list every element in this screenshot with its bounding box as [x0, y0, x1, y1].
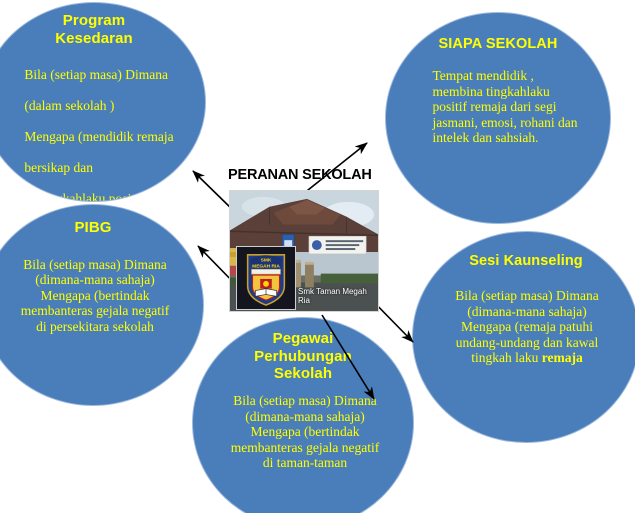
node-pibg[interactable]: PIBG Bila (setiap masa) Dimana (dimana-m…: [0, 204, 204, 406]
node-pegawai-perhubungan-sekolah-body: Bila (setiap masa) Dimana (dimana-mana s…: [221, 393, 385, 471]
body-emphasis: remaja: [542, 350, 583, 365]
page-title: PERANAN SEKOLAH: [228, 167, 372, 183]
node-sesi-kaunseling-title: Sesi Kaunseling: [469, 253, 583, 270]
svg-text:MEGAH RIA: MEGAH RIA: [252, 263, 280, 269]
body-line: Bila (setiap masa) Dimana: [24, 67, 168, 82]
node-pibg-title: PIBG: [74, 219, 111, 237]
body-line: bersikap dan: [24, 160, 93, 175]
svg-text:SMK: SMK: [261, 258, 272, 264]
node-program-kesedaran-title: Program Kesedaran: [55, 12, 133, 47]
body-line: Mengapa (mendidik remaja: [24, 129, 173, 144]
node-sesi-kaunseling[interactable]: Sesi Kaunseling Bila (setiap masa) Diman…: [412, 231, 635, 443]
node-pegawai-perhubungan-sekolah[interactable]: Pegawai Perhubungan Sekolah Bila (setiap…: [192, 317, 414, 513]
crest-icon: SMK MEGAH RIA: [237, 247, 295, 309]
diagram-canvas: Program Kesedaran Bila (setiap masa) Dim…: [0, 0, 635, 513]
node-siapa-sekolah[interactable]: SIAPA SEKOLAH Tempat mendidik , membina …: [385, 12, 611, 224]
photo-caption: Smk Taman Megah Ria: [298, 287, 374, 305]
node-program-kesedaran[interactable]: Program Kesedaran Bila (setiap masa) Dim…: [0, 2, 206, 202]
node-pibg-body: Bila (setiap masa) Dimana (dimana-mana s…: [11, 257, 175, 335]
node-siapa-sekolah-title: SIAPA SEKOLAH: [439, 36, 558, 53]
node-program-kesedaran-body: Bila (setiap masa) Dimana (dalam sekolah…: [10, 51, 177, 202]
school-crest-logo: SMK MEGAH RIA: [236, 246, 296, 310]
body-line: bertingkahlaku positif): [24, 191, 147, 202]
node-pegawai-perhubungan-sekolah-title: Pegawai Perhubungan Sekolah: [254, 330, 352, 383]
body-line: (dalam sekolah ): [24, 98, 114, 113]
node-siapa-sekolah-body: Tempat mendidik , membina tingkahlaku po…: [410, 68, 585, 146]
node-sesi-kaunseling-body: Bila (setiap masa) Dimana (dimana-mana s…: [447, 288, 605, 366]
